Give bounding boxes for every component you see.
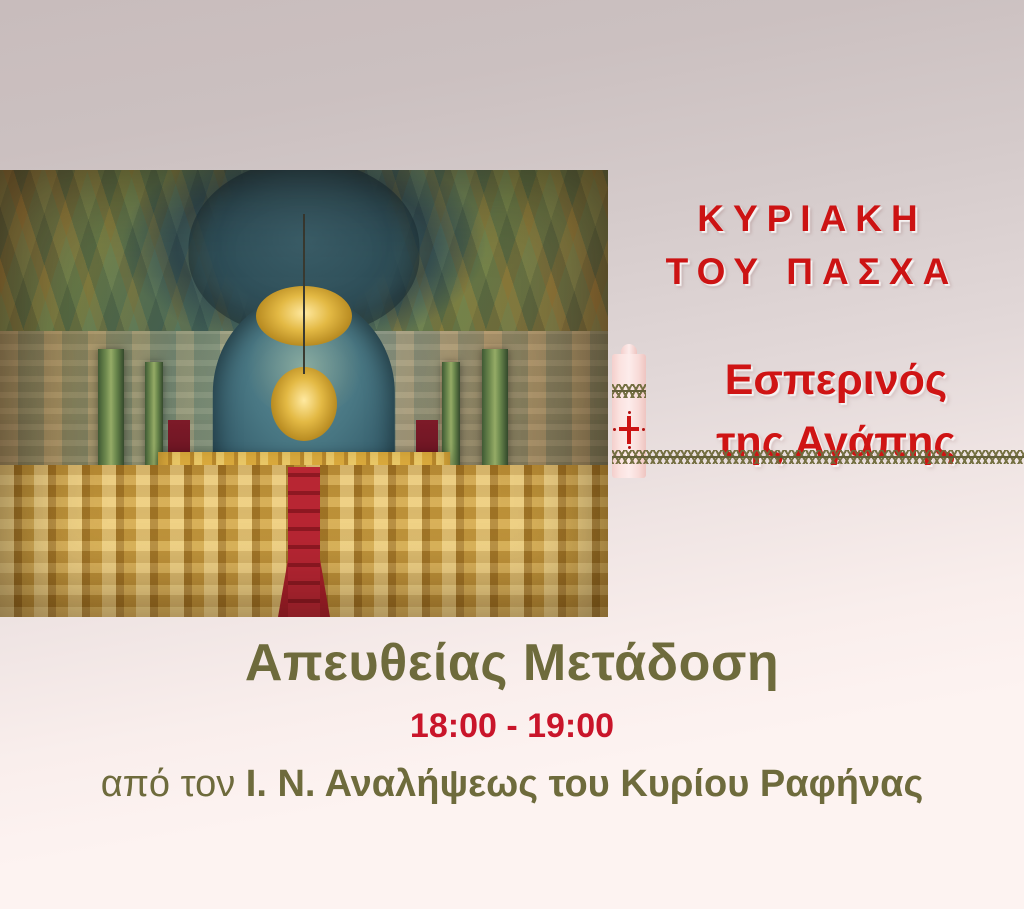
broadcast-heading: Απευθείας Μετάδοση <box>0 630 1024 696</box>
poster-footer: Απευθείας Μετάδοση 18:00 - 19:00 από τον… <box>0 630 1024 810</box>
church-interior-photo <box>0 170 608 617</box>
candle-body <box>612 354 646 478</box>
photo-content <box>0 170 608 617</box>
venue-name: Ι. Ν. Αναλήψεως του Κυρίου Ραφήνας <box>246 763 923 805</box>
venue-line: από τον Ι. Ν. Αναλήψεως του Κυρίου Ραφήν… <box>0 758 1024 810</box>
poster-title: ΚΥΡΙΑΚΗ ΤΟΥ ΠΑΣΧΑ <box>612 192 1012 298</box>
title-line-2: ΤΟΥ ΠΑΣΧΑ <box>612 245 1012 298</box>
cross-horizontal <box>619 427 639 431</box>
candle-laurel-band-top <box>612 384 646 398</box>
broadcast-time: 18:00 - 19:00 <box>0 700 1024 752</box>
venue-prefix: από τον <box>101 763 246 805</box>
cross-dot-bottom <box>628 446 631 449</box>
subtitle-line-1: Εσπερινός <box>656 349 1016 411</box>
paschal-candle-icon <box>612 344 646 478</box>
red-aisle-carpet <box>278 170 330 617</box>
title-line-1: ΚΥΡΙΑΚΗ <box>612 192 1012 245</box>
cross-dot-top <box>628 411 631 414</box>
poster-subtitle-row: Εσπερινός της Αγάπης <box>612 344 1016 478</box>
cross-dot-left <box>613 428 616 431</box>
cross-dot-right <box>642 428 645 431</box>
candle-laurel-band-bottom <box>612 450 1024 464</box>
red-cross-icon <box>617 416 641 444</box>
easter-vespers-poster: ΚΥΡΙΑΚΗ ΤΟΥ ΠΑΣΧΑ Εσπερινός της Αγάπ <box>0 0 1024 909</box>
